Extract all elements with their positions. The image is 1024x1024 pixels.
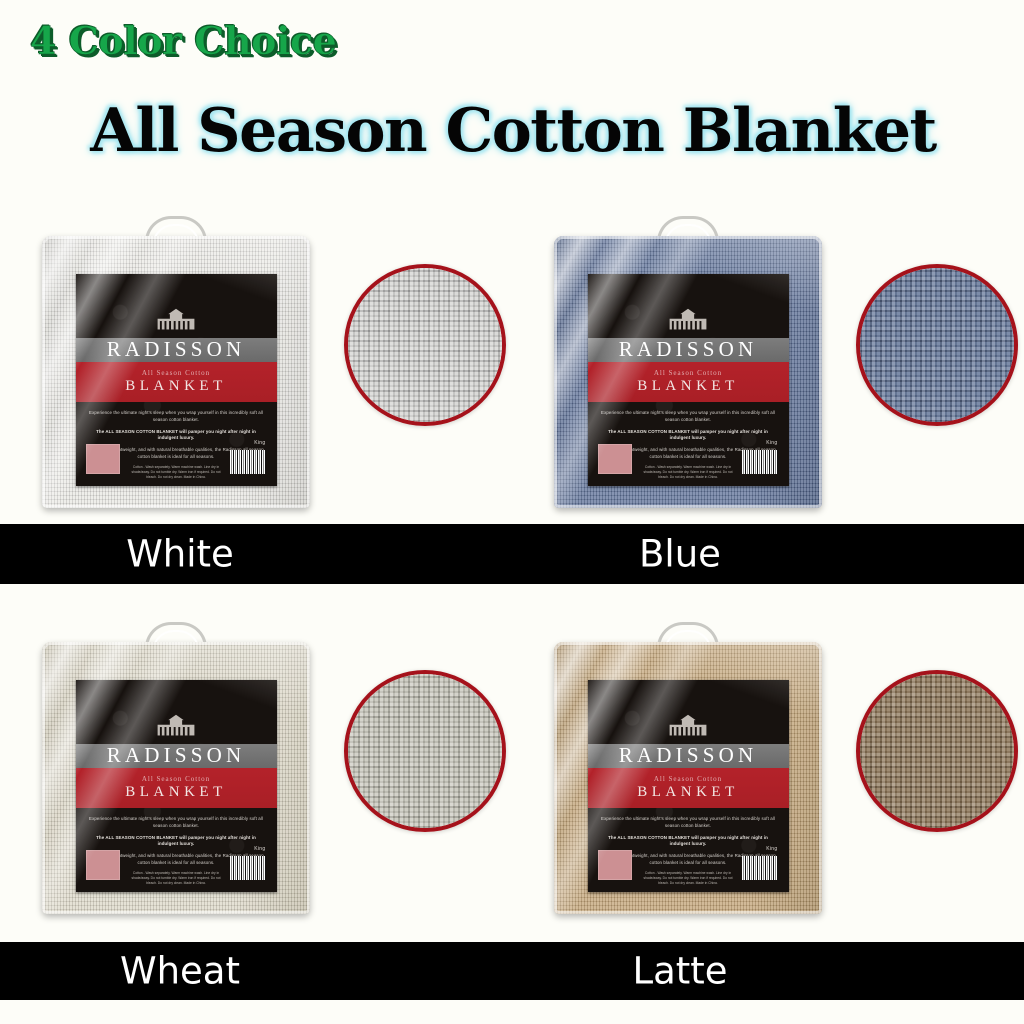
product-band: All Season Cotton BLANKET — [588, 768, 789, 808]
brand-name: RADISSON — [619, 339, 758, 360]
label-copy-line-1: Experience the ultimate night's sleep wh… — [600, 816, 777, 830]
product-cell-latte: RADISSON All Season Cotton BLANKET Exper… — [512, 628, 1024, 928]
product-cell-white: RADISSON All Season Cotton BLANKET Exper… — [0, 222, 512, 522]
fabric-swatch-blue[interactable] — [856, 264, 1018, 426]
bag-body: RADISSON All Season Cotton BLANKET Exper… — [554, 236, 822, 508]
product-band: All Season Cotton BLANKET — [588, 362, 789, 402]
label-barcode — [229, 855, 267, 880]
brand-name: RADISSON — [107, 745, 246, 766]
package-latte[interactable]: RADISSON All Season Cotton BLANKET Exper… — [554, 642, 822, 914]
caption-bar-row-2: Wheat Latte — [0, 942, 1024, 1000]
label-size: King — [766, 440, 777, 446]
label-size: King — [254, 846, 265, 852]
brand-name: RADISSON — [107, 339, 246, 360]
package-wheat[interactable]: RADISSON All Season Cotton BLANKET Exper… — [42, 642, 310, 914]
fabric-swatch-white[interactable] — [344, 264, 506, 426]
label-color-chip — [86, 444, 120, 474]
label-copy-line-1: Experience the ultimate night's sleep wh… — [600, 410, 777, 424]
product-label: RADISSON All Season Cotton BLANKET Exper… — [76, 680, 277, 892]
package-blue[interactable]: RADISSON All Season Cotton BLANKET Exper… — [554, 236, 822, 508]
label-product-word: BLANKET — [125, 784, 227, 801]
product-band: All Season Cotton BLANKET — [76, 768, 277, 808]
label-color-chip — [86, 850, 120, 880]
label-product-word: BLANKET — [637, 784, 739, 801]
bag-body: RADISSON All Season Cotton BLANKET Exper… — [42, 642, 310, 914]
bag-body: RADISSON All Season Cotton BLANKET Exper… — [554, 642, 822, 914]
radisson-crest-icon — [665, 308, 711, 331]
label-copy-line-2: The ALL SEASON COTTON BLANKET will pampe… — [88, 429, 265, 443]
label-color-chip — [598, 444, 632, 474]
label-size: King — [254, 440, 265, 446]
label-copy-line-2: The ALL SEASON COTTON BLANKET will pampe… — [600, 835, 777, 849]
label-product-word: BLANKET — [125, 378, 227, 395]
caption-latte: Latte — [540, 950, 820, 993]
product-label: RADISSON All Season Cotton BLANKET Exper… — [588, 274, 789, 486]
product-label: RADISSON All Season Cotton BLANKET Exper… — [76, 274, 277, 486]
swatch-weave-texture — [348, 268, 502, 422]
swatch-weave-texture — [860, 674, 1014, 828]
label-copy-line-2: The ALL SEASON COTTON BLANKET will pampe… — [88, 835, 265, 849]
label-subline: All Season Cotton — [142, 369, 210, 377]
caption-white: White — [40, 533, 320, 576]
radisson-crest-icon — [153, 308, 199, 331]
label-size: King — [766, 846, 777, 852]
fabric-swatch-latte[interactable] — [856, 670, 1018, 832]
caption-bar-row-1: White Blue — [0, 524, 1024, 584]
product-cell-wheat: RADISSON All Season Cotton BLANKET Exper… — [0, 628, 512, 928]
bag-body: RADISSON All Season Cotton BLANKET Exper… — [42, 236, 310, 508]
package-white[interactable]: RADISSON All Season Cotton BLANKET Exper… — [42, 236, 310, 508]
label-subline: All Season Cotton — [142, 775, 210, 783]
swatch-weave-texture — [348, 674, 502, 828]
label-subline: All Season Cotton — [654, 369, 722, 377]
label-copy-line-2: The ALL SEASON COTTON BLANKET will pampe… — [600, 429, 777, 443]
fabric-swatch-wheat[interactable] — [344, 670, 506, 832]
label-color-chip — [598, 850, 632, 880]
brand-band: RADISSON — [76, 744, 277, 768]
radisson-crest-icon — [665, 714, 711, 737]
label-copy-line-1: Experience the ultimate night's sleep wh… — [88, 410, 265, 424]
radisson-crest-icon — [153, 714, 199, 737]
label-subline: All Season Cotton — [654, 775, 722, 783]
product-cell-blue: RADISSON All Season Cotton BLANKET Exper… — [512, 222, 1024, 522]
caption-wheat: Wheat — [40, 950, 320, 993]
label-care-text: Cotton - Wash separately. Warm machine w… — [128, 871, 225, 886]
label-barcode — [741, 855, 779, 880]
label-barcode — [229, 449, 267, 474]
eyebrow-heading: 4 Color Choice — [30, 18, 336, 63]
label-care-text: Cotton - Wash separately. Warm machine w… — [640, 871, 737, 886]
label-product-word: BLANKET — [637, 378, 739, 395]
product-label: RADISSON All Season Cotton BLANKET Exper… — [588, 680, 789, 892]
swatch-weave-texture — [860, 268, 1014, 422]
caption-blue: Blue — [540, 533, 820, 576]
product-band: All Season Cotton BLANKET — [76, 362, 277, 402]
label-copy-line-1: Experience the ultimate night's sleep wh… — [88, 816, 265, 830]
brand-band: RADISSON — [588, 744, 789, 768]
brand-name: RADISSON — [619, 745, 758, 766]
label-barcode — [741, 449, 779, 474]
brand-band: RADISSON — [588, 338, 789, 362]
label-care-text: Cotton - Wash separately. Warm machine w… — [128, 465, 225, 480]
brand-band: RADISSON — [76, 338, 277, 362]
label-care-text: Cotton - Wash separately. Warm machine w… — [640, 465, 737, 480]
page-title: All Season Cotton Blanket — [32, 96, 994, 166]
